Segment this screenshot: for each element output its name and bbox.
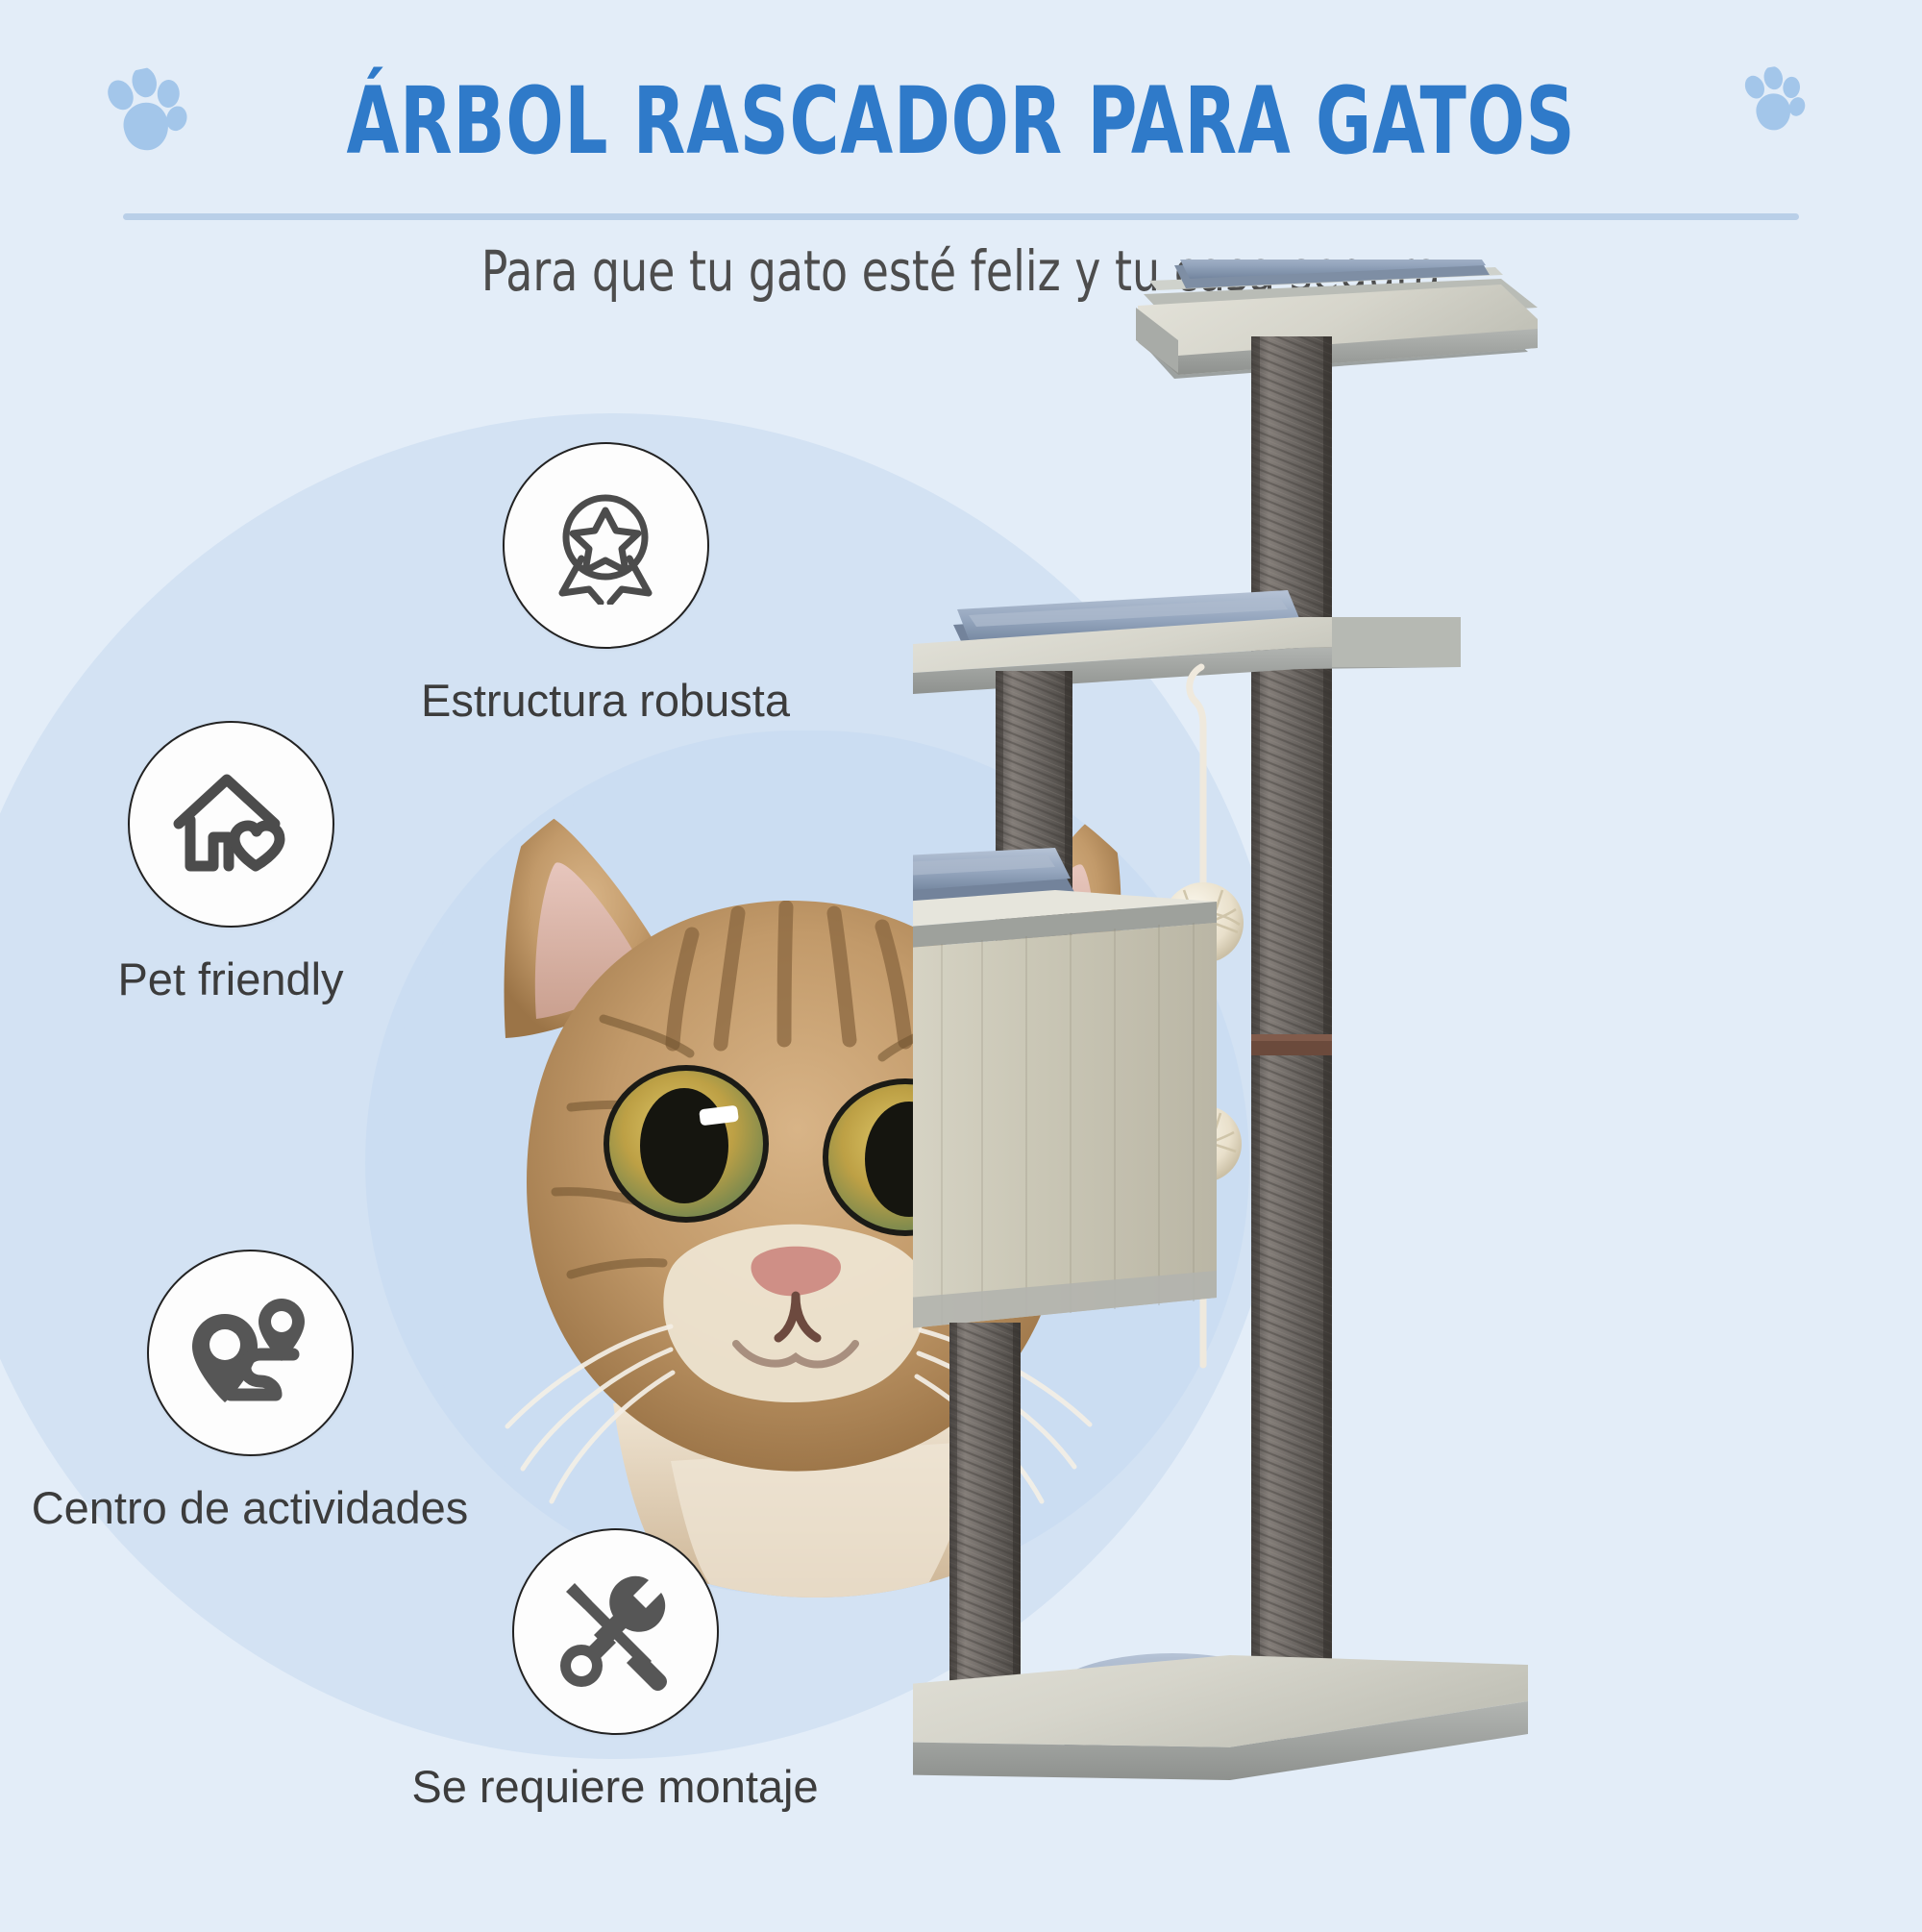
scratching-posts-lower [913,1323,1021,1736]
second-platform [913,590,1461,694]
top-platform [1136,260,1538,379]
feature-label: Estructura robusta [384,674,826,727]
header: ÁRBOL RASCADOR PARA GATOS Para que tu ga… [0,0,1922,240]
product-image-cat-tree [913,260,1922,1932]
feature-se-requiere-montaje: Se requiere montaje [394,1528,836,1813]
house-heart-icon [128,721,334,928]
screwdriver-wrench-icon [512,1528,719,1735]
map-route-pins-icon [147,1250,354,1456]
feature-pet-friendly: Pet friendly [10,721,452,1005]
page-title: ÁRBOL RASCADOR PARA GATOS [173,67,1749,175]
feature-estructura-robusta: Estructura robusta [384,442,826,727]
scratching-post-main [1251,336,1332,1692]
condo-box [913,848,1217,1328]
feature-centro-de-actividades: Centro de actividades [0,1250,519,1534]
feature-label: Se requiere montaje [394,1760,836,1813]
feature-label: Pet friendly [10,953,452,1005]
award-medal-icon [503,442,709,649]
title-divider [123,213,1799,220]
paw-print-icon [1736,62,1811,141]
feature-label: Centro de actividades [0,1481,519,1534]
